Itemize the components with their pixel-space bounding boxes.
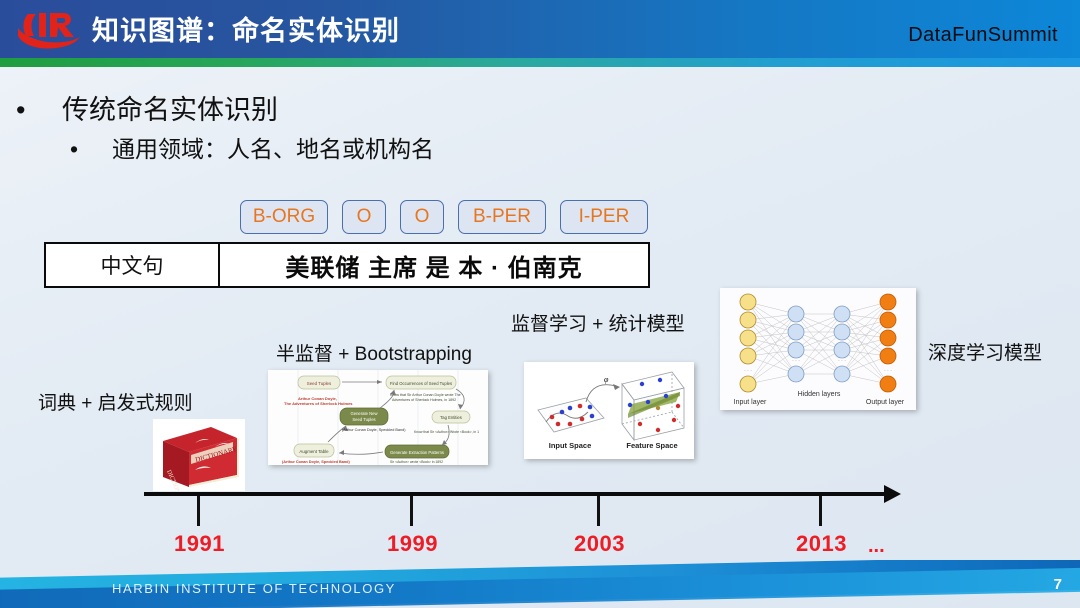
figure-dictionary-book: DICTIONARY DICTIONARY	[153, 419, 245, 491]
nn-input-label: Input layer	[734, 399, 767, 406]
bullet-level2-text: 通用领域：人名、地名或机构名	[112, 136, 434, 162]
bullet-marker-icon: •	[16, 95, 62, 126]
ner-tag: I-PER	[560, 200, 648, 234]
bullet-level1: •传统命名实体识别	[16, 88, 278, 127]
timeline-tick	[410, 496, 413, 526]
footer-bar: HARBIN INSTITUTE OF TECHNOLOGY 7	[0, 560, 1080, 608]
nn-hidden-label: Hidden layers	[798, 391, 841, 398]
caption-bootstrapping: 半监督 + Bootstrapping	[276, 339, 472, 366]
svg-text:Input Space: Input Space	[549, 441, 592, 450]
timeline-year: 2003	[574, 531, 625, 557]
svg-text:Augment Table: Augment Table	[299, 449, 329, 454]
timeline-tick	[197, 496, 200, 526]
svg-text:Sir <Author> wrote <Book> in 1: Sir <Author> wrote <Book> in 1892	[390, 460, 443, 464]
caption-dictionary: 词典 + 启发式规则	[38, 388, 193, 415]
timeline-ellipsis: ...	[868, 535, 885, 558]
svg-text:· · ·: · · ·	[838, 358, 846, 364]
footer-institution-text: HARBIN INSTITUTE OF TECHNOLOGY	[112, 581, 396, 596]
timeline-year: 1991	[174, 531, 225, 557]
svg-text:Seed Tuples: Seed Tuples	[307, 381, 332, 386]
ner-tag-row: B-ORG O O B-PER I-PER	[240, 200, 648, 234]
svg-text:Seed Tuples: Seed Tuples	[352, 417, 375, 422]
timeline-tick	[597, 496, 600, 526]
ner-tag: O	[342, 200, 386, 234]
svg-text:Find Occurrences of Seed Tuple: Find Occurrences of Seed Tuples	[390, 381, 452, 386]
bullet-level2: •通用领域：人名、地名或机构名	[70, 130, 434, 164]
figure-bootstrapping-cycle: Seed Tuples Find Occurrences of Seed Tup…	[268, 370, 488, 465]
svg-text:Feature Space: Feature Space	[626, 441, 677, 450]
header-accent-strip	[0, 58, 1080, 67]
page-number: 7	[1054, 576, 1062, 593]
hit-ir-logo-icon	[14, 6, 82, 52]
svg-text:(Arthur Conan Doyle, Speckled: (Arthur Conan Doyle, Speckled Band)	[342, 428, 406, 432]
timeline-year: 2013	[796, 531, 847, 557]
svg-text:The Adventures of Sherlock Hol: The Adventures of Sherlock Holmes	[284, 401, 353, 406]
brand-logo-text: DataFunSummit	[908, 24, 1058, 47]
figure-kernel-trick: φ Input Space Feature Space	[524, 362, 694, 459]
timeline-year: 1999	[387, 531, 438, 557]
caption-deep-learning: 深度学习模型	[928, 338, 1042, 365]
ner-tag: B-ORG	[240, 200, 328, 234]
bullet-level1-text: 传统命名实体识别	[62, 95, 278, 125]
slide-canvas: 知识图谱：命名实体识别 DataFunSummit •传统命名实体识别 •通用领…	[0, 0, 1080, 608]
timeline-arrow-icon	[884, 485, 901, 503]
sentence-table: 中文句 美联储 主席 是 本 · 伯南克	[44, 242, 650, 288]
svg-text:· · ·: · · ·	[744, 368, 752, 374]
svg-text:Know that Sir <Author> Wrote <: Know that Sir <Author> Wrote <Book>, in …	[414, 430, 479, 434]
timeline-axis	[144, 492, 892, 496]
phi-symbol: φ	[604, 375, 609, 384]
ner-tag: B-PER	[458, 200, 546, 234]
bullet-marker-icon: •	[70, 136, 112, 163]
svg-text:· · ·: · · ·	[884, 368, 892, 374]
svg-text:Generate New: Generate New	[351, 411, 379, 416]
sentence-row-label: 中文句	[46, 244, 220, 286]
caption-supervised: 监督学习 + 统计模型	[511, 309, 685, 336]
sentence-text: 美联储 主席 是 本 · 伯南克	[220, 244, 648, 286]
svg-text:Tag Entities: Tag Entities	[440, 415, 462, 420]
svg-text:· · ·: · · ·	[792, 358, 800, 364]
svg-text:Know that Sir Arthur Conan Doy: Know that Sir Arthur Conan Doyle wrote T…	[390, 393, 461, 397]
svg-text:Generate Extraction Patterns: Generate Extraction Patterns	[390, 450, 444, 455]
svg-text:Adventures of Sherlock Holmes,: Adventures of Sherlock Holmes, in 1892	[392, 398, 456, 402]
svg-text:(Arthur Conan Doyle, Speckled: (Arthur Conan Doyle, Speckled Band)	[282, 460, 350, 464]
page-title: 知识图谱：命名实体识别	[92, 9, 400, 48]
timeline-tick	[819, 496, 822, 526]
nn-output-label: Output layer	[866, 399, 905, 406]
ner-tag: O	[400, 200, 444, 234]
figure-neural-network: · · · · · · · · · · · · Input layer Hidd…	[720, 288, 916, 410]
